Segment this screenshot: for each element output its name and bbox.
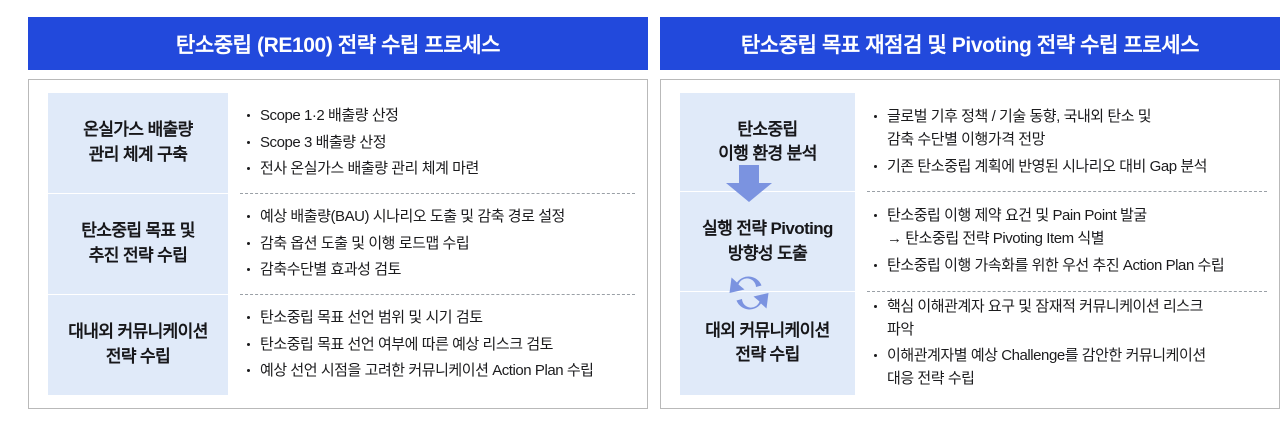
stage-label-box: 온실가스 배출량 관리 체계 구축 (48, 93, 228, 193)
panel-title-pivoting: 탄소중립 목표 재점검 및 Pivoting 전략 수립 프로세스 (660, 17, 1280, 70)
stage-label-box: 대내외 커뮤니케이션 전략 수립 (48, 295, 228, 395)
process-row: 실행 전략 Pivoting 방향성 도출 탄소중립 이행 제약 요건 및 Pa… (680, 192, 1267, 290)
stage-label-line: 대내외 커뮤니케이션 (68, 320, 207, 345)
stage-label-line: 대외 커뮤니케이션 (705, 319, 829, 344)
bullet-item: 핵심 이해관계자 요구 및 잠재적 커뮤니케이션 리스크 파악 (873, 296, 1267, 342)
process-row: 대내외 커뮤니케이션 전략 수립 탄소중립 목표 선언 범위 및 시기 검토 탄… (48, 295, 635, 395)
diagram-canvas: 탄소중립 (RE100) 전략 수립 프로세스 온실가스 배출량 관리 체계 구… (0, 0, 1286, 436)
stage-label-box: 대외 커뮤니케이션 전략 수립 (680, 292, 855, 395)
panel-pivoting-process: 탄소중립 목표 재점검 및 Pivoting 전략 수립 프로세스 탄소중립 이… (660, 17, 1280, 409)
bullet-item: 탄소중립 목표 선언 여부에 따른 예상 리스크 검토 (246, 334, 635, 357)
stage-label-line: 탄소중립 목표 및 (81, 219, 195, 244)
bullet-item: 감축수단별 효과성 검토 (246, 259, 635, 282)
stage-label-line: 온실가스 배출량 (83, 118, 192, 143)
stage-label-line: 탄소중립 (737, 118, 797, 143)
stage-label-line: 추진 전략 수립 (89, 244, 188, 269)
bullet-item: 탄소중립 이행 제약 요건 및 Pain Point 발굴 → 탄소중립 전략 … (873, 205, 1267, 251)
stage-label-line: 전략 수립 (735, 343, 799, 368)
bullet-item: 감축 옵션 도출 및 이행 로드맵 수립 (246, 233, 635, 256)
panel-re100-process: 탄소중립 (RE100) 전략 수립 프로세스 온실가스 배출량 관리 체계 구… (28, 17, 648, 409)
bullet-item: 이해관계자별 예상 Challenge를 감안한 커뮤니케이션 대응 전략 수립 (873, 345, 1267, 391)
stage-label-line: 이행 환경 분석 (718, 142, 817, 167)
bullet-item: Scope 1·2 배출량 산정 (246, 105, 635, 128)
stage-label-box: 탄소중립 목표 및 추진 전략 수립 (48, 194, 228, 294)
bullet-item: 탄소중립 이행 가속화를 위한 우선 추진 Action Plan 수립 (873, 255, 1267, 278)
stage-label-line: 방향성 도출 (728, 242, 807, 267)
stage-label-line: 실행 전략 Pivoting (702, 217, 833, 242)
panel-body-pivoting: 탄소중립 이행 환경 분석 글로벌 기후 정책 / 기술 동향, 국내외 탄소 … (660, 79, 1280, 409)
process-row: 탄소중립 이행 환경 분석 글로벌 기후 정책 / 기술 동향, 국내외 탄소 … (680, 93, 1267, 191)
bullet-item: 예상 선언 시점을 고려한 커뮤니케이션 Action Plan 수립 (246, 360, 635, 383)
stage-label-box: 탄소중립 이행 환경 분석 (680, 93, 855, 191)
stage-bullet-list: 글로벌 기후 정책 / 기술 동향, 국내외 탄소 및 감축 수단별 이행가격 … (855, 93, 1267, 191)
process-row: 온실가스 배출량 관리 체계 구축 Scope 1·2 배출량 산정 Scope… (48, 93, 635, 193)
bullet-item: Scope 3 배출량 산정 (246, 132, 635, 155)
bullet-item: 기존 탄소중립 계획에 반영된 시나리오 대비 Gap 분석 (873, 156, 1267, 179)
bullet-item: 탄소중립 목표 선언 범위 및 시기 검토 (246, 307, 635, 330)
stage-label-line: 관리 체계 구축 (89, 143, 188, 168)
stage-bullet-list: 핵심 이해관계자 요구 및 잠재적 커뮤니케이션 리스크 파악 이해관계자별 예… (855, 292, 1267, 395)
bullet-item: 글로벌 기후 정책 / 기술 동향, 국내외 탄소 및 감축 수단별 이행가격 … (873, 106, 1267, 152)
stage-bullet-list: 탄소중립 목표 선언 범위 및 시기 검토 탄소중립 목표 선언 여부에 따른 … (228, 295, 635, 395)
bullet-item: 전사 온실가스 배출량 관리 체계 마련 (246, 158, 635, 181)
stage-bullet-list: 예상 배출량(BAU) 시나리오 도출 및 감축 경로 설정 감축 옵션 도출 … (228, 194, 635, 294)
stage-bullet-list: Scope 1·2 배출량 산정 Scope 3 배출량 산정 전사 온실가스 … (228, 93, 635, 193)
stage-label-line: 전략 수립 (106, 345, 170, 370)
process-row: 대외 커뮤니케이션 전략 수립 핵심 이해관계자 요구 및 잠재적 커뮤니케이션… (680, 292, 1267, 395)
panel-body-re100: 온실가스 배출량 관리 체계 구축 Scope 1·2 배출량 산정 Scope… (28, 79, 648, 409)
stage-bullet-list: 탄소중립 이행 제약 요건 및 Pain Point 발굴 → 탄소중립 전략 … (855, 192, 1267, 290)
stage-label-box: 실행 전략 Pivoting 방향성 도출 (680, 192, 855, 290)
bullet-item: 예상 배출량(BAU) 시나리오 도출 및 감축 경로 설정 (246, 206, 635, 229)
process-row: 탄소중립 목표 및 추진 전략 수립 예상 배출량(BAU) 시나리오 도출 및… (48, 194, 635, 294)
panel-title-re100: 탄소중립 (RE100) 전략 수립 프로세스 (28, 17, 648, 70)
